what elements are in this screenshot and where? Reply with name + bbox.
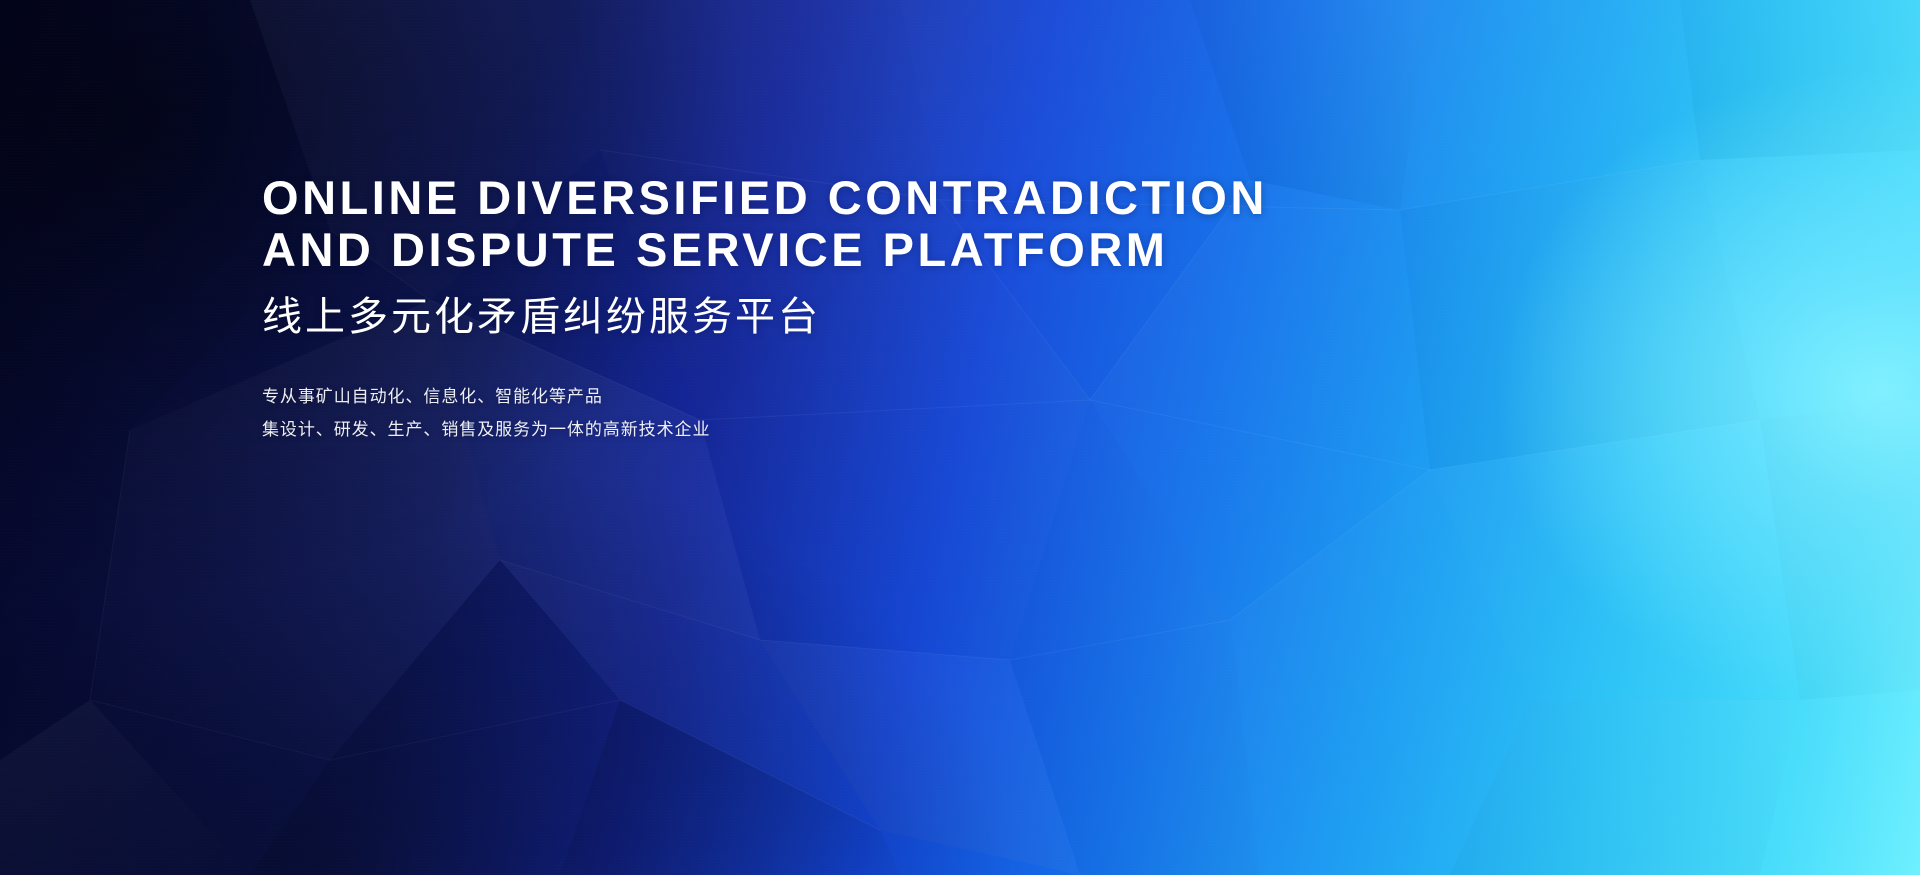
headline-english: ONLINE DIVERSIFIED CONTRADICTION AND DIS… <box>262 172 1382 276</box>
description-line-1: 专从事矿山自动化、信息化、智能化等产品 <box>262 380 1382 413</box>
description-line-2: 集设计、研发、生产、销售及服务为一体的高新技术企业 <box>262 413 1382 446</box>
hero-banner: ONLINE DIVERSIFIED CONTRADICTION AND DIS… <box>0 0 1920 875</box>
banner-content: ONLINE DIVERSIFIED CONTRADICTION AND DIS… <box>262 172 1382 446</box>
headline-chinese: 线上多元化矛盾纠纷服务平台 <box>262 294 1382 340</box>
description-block: 专从事矿山自动化、信息化、智能化等产品 集设计、研发、生产、销售及服务为一体的高… <box>262 380 1382 446</box>
